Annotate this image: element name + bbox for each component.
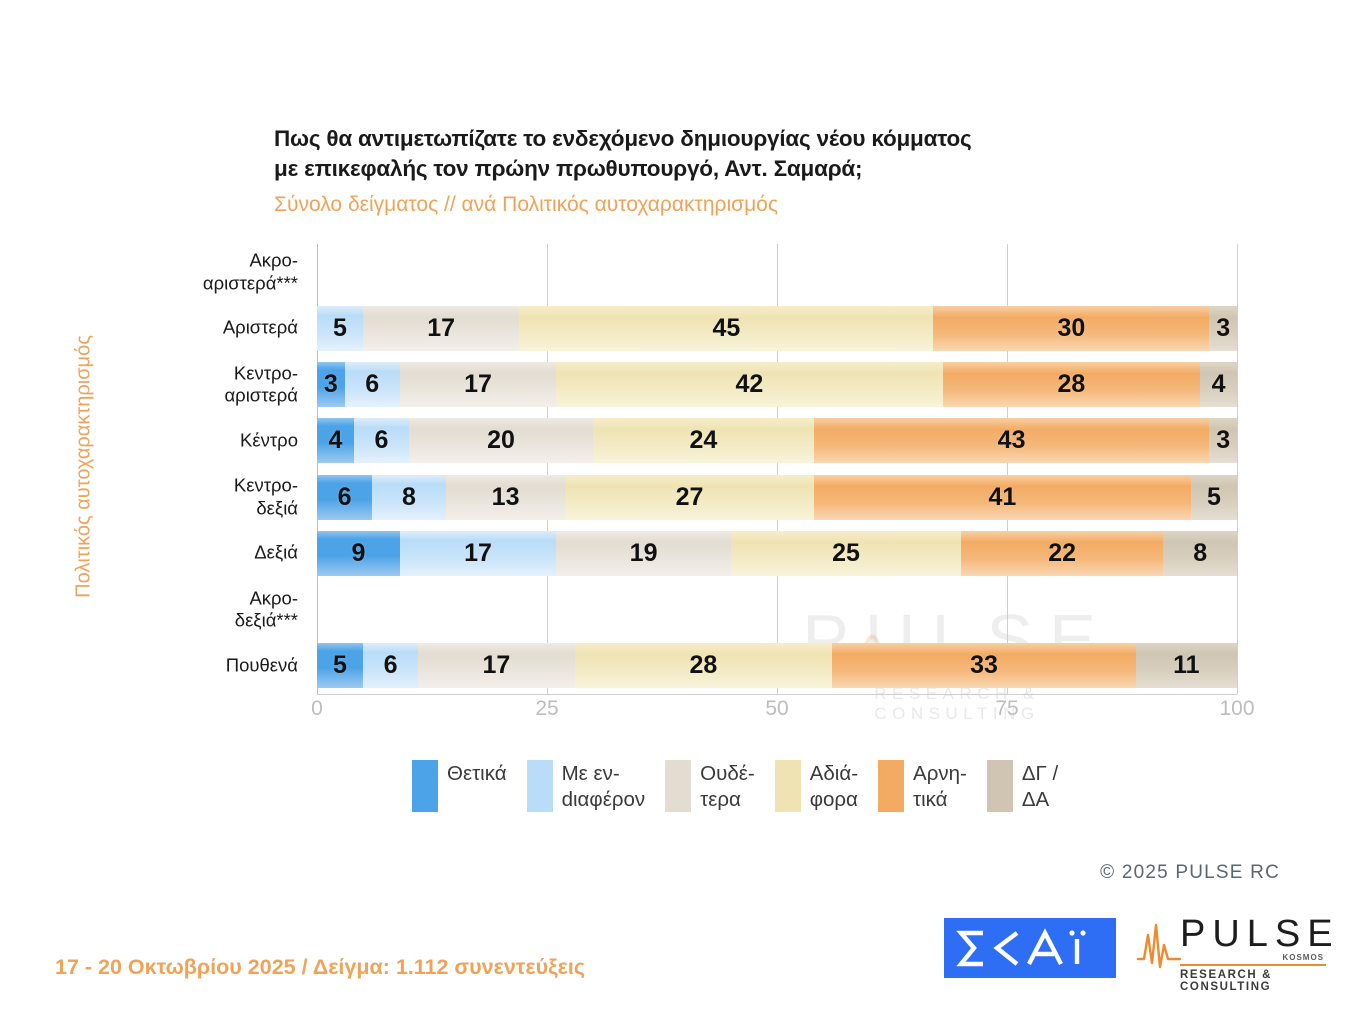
- x-tick-label: 25: [535, 697, 558, 721]
- y-category-label: Αριστερά: [100, 317, 298, 340]
- y-category-label: Δεξιά: [100, 542, 298, 565]
- bar-segment: 30: [933, 306, 1209, 351]
- bar-row: 462024433: [317, 418, 1237, 463]
- legend-item[interactable]: Αρνη- τικά: [878, 760, 967, 813]
- bar-segment-value: 28: [1057, 370, 1085, 399]
- y-category-label: Ακρο-δεξιά***: [100, 587, 298, 632]
- bar-segment-value: 28: [689, 651, 717, 680]
- y-axis-category-labels: Ακρο-αριστερά***ΑριστεράΚεντρο-αριστεράΚ…: [100, 244, 308, 694]
- bar-segment-value: 5: [1207, 483, 1221, 512]
- title-block: Πως θα αντιμετωπίζατε το ενδεχόμενο δημι…: [274, 124, 1174, 220]
- grid-line: [1237, 244, 1238, 694]
- x-axis-tick-labels: 0255075100: [317, 697, 1237, 729]
- pulse-logo-tagline: RESEARCH & CONSULTING: [1180, 969, 1326, 993]
- bar-segment-value: 4: [328, 426, 342, 455]
- chart-title-line-1: Πως θα αντιμετωπίζατε το ενδεχόμενο δημι…: [274, 124, 1174, 154]
- bar-segment: 13: [446, 475, 566, 520]
- bar-segment: 4: [317, 418, 354, 463]
- bar-segment: 8: [372, 475, 446, 520]
- x-axis-line: [317, 694, 1237, 695]
- bar-segment-value: 6: [365, 370, 379, 399]
- bar-segment: 17: [400, 531, 556, 576]
- fieldwork-note: 17 - 20 Οκτωβρίου 2025 / Δείγμα: 1.112 σ…: [55, 955, 585, 980]
- bar-segment: 6: [345, 362, 400, 407]
- bar-segment-value: 4: [1212, 370, 1226, 399]
- bar-segment-value: 6: [338, 483, 352, 512]
- legend-label: Θετικά: [447, 760, 507, 787]
- legend-item[interactable]: Με εν- dιαφέρον: [527, 760, 646, 813]
- legend-label: Ουδέ- τερα: [700, 760, 755, 813]
- bar-segment: 28: [575, 643, 833, 688]
- bar-row: 361742284: [317, 362, 1237, 407]
- bar-segment-value: 6: [384, 651, 398, 680]
- legend-swatch: [412, 760, 438, 812]
- bar-segment-value: 42: [735, 370, 763, 399]
- bar-segment: 6: [354, 418, 409, 463]
- copyright-text: © 2025 PULSE RC: [1100, 862, 1280, 884]
- legend-item[interactable]: Θετικά: [412, 760, 507, 812]
- bar-segment: 3: [317, 362, 345, 407]
- bar-segment: 3: [1209, 306, 1237, 351]
- plot-area: ∿ PULSE RESEARCH & CONSULTING 5174530336…: [317, 244, 1237, 694]
- pulse-logo: PULSE KOSMOS RESEARCH & CONSULTING: [1136, 915, 1326, 987]
- bar-segment: 43: [814, 418, 1210, 463]
- y-category-label: Ακρο-αριστερά***: [100, 250, 298, 295]
- y-category-label: Κέντρο: [100, 430, 298, 453]
- bar-segment: 45: [519, 306, 933, 351]
- bar-segment-value: 27: [676, 483, 704, 512]
- pulse-logo-kosmos: KOSMOS: [1282, 953, 1324, 962]
- pulse-logo-rule: [1180, 964, 1326, 966]
- bar-segment-value: 17: [482, 651, 510, 680]
- bar-segment-value: 3: [324, 370, 338, 399]
- bar-segment: 22: [961, 531, 1163, 576]
- bar-segment: 42: [556, 362, 942, 407]
- pulse-waveform-icon: [1136, 919, 1182, 975]
- bar-segment: 8: [1163, 531, 1237, 576]
- bar-segment: 33: [832, 643, 1136, 688]
- y-category-label: Κεντρο-αριστερά: [100, 362, 298, 407]
- bar-row: 681327415: [317, 475, 1237, 520]
- y-axis-title: Πολιτικός αυτοχαρακτηρισμός: [73, 307, 96, 627]
- bar-row: 5617283311: [317, 643, 1237, 688]
- bar-segment-value: 43: [998, 426, 1026, 455]
- bar-segment-value: 5: [333, 314, 347, 343]
- bar-segment-value: 6: [374, 426, 388, 455]
- bar-segment-value: 3: [1216, 426, 1230, 455]
- skai-logo: [944, 918, 1116, 978]
- legend-label: ΔΓ / ΔΑ: [1022, 760, 1058, 813]
- bar-segment-value: 11: [1173, 651, 1199, 680]
- bar-segment-value: 45: [712, 314, 740, 343]
- bar-segment-value: 17: [464, 370, 492, 399]
- bar-segment: 11: [1136, 643, 1237, 688]
- bar-segment-value: 24: [689, 426, 717, 455]
- bar-segment: 5: [317, 643, 363, 688]
- y-category-label: Πουθενά: [100, 655, 298, 678]
- chart-subtitle: Σύνολο δείγματος // ανά Πολιτικός αυτοχα…: [274, 189, 1174, 221]
- legend-item[interactable]: Ουδέ- τερα: [665, 760, 755, 813]
- pulse-logo-wordmark: PULSE: [1180, 915, 1340, 953]
- bar-segment-value: 33: [970, 651, 998, 680]
- x-tick-label: 50: [765, 697, 788, 721]
- legend-item[interactable]: Αδιά- φορα: [775, 760, 858, 813]
- legend-swatch: [987, 760, 1013, 812]
- bar-segment-value: 8: [1193, 539, 1207, 568]
- skai-logo-icon: [955, 927, 1105, 969]
- bar-segment: 41: [814, 475, 1191, 520]
- legend-label: Αρνη- τικά: [913, 760, 967, 813]
- bar-segment: 25: [731, 531, 961, 576]
- legend-label: Αδιά- φορα: [810, 760, 858, 813]
- legend-item[interactable]: ΔΓ / ΔΑ: [987, 760, 1058, 813]
- bar-segment: 6: [363, 643, 418, 688]
- bar-segment: 27: [565, 475, 813, 520]
- legend-swatch: [775, 760, 801, 812]
- stacked-bars: 5174530336174228446202443368132741591719…: [317, 244, 1237, 694]
- bar-segment-value: 17: [427, 314, 455, 343]
- x-tick-label: 0: [311, 697, 323, 721]
- bar-segment: 19: [556, 531, 731, 576]
- bar-segment-value: 25: [832, 539, 860, 568]
- bar-row: 9171925228: [317, 531, 1237, 576]
- bar-segment-value: 19: [630, 539, 658, 568]
- bar-segment-value: 8: [402, 483, 416, 512]
- bar-segment: 17: [363, 306, 519, 351]
- bar-segment: 17: [400, 362, 556, 407]
- legend-swatch: [665, 760, 691, 812]
- bar-segment-value: 9: [351, 539, 365, 568]
- bar-segment-value: 41: [988, 483, 1016, 512]
- bar-row: 51745303: [317, 306, 1237, 351]
- x-tick-label: 75: [995, 697, 1018, 721]
- bar-segment: 6: [317, 475, 372, 520]
- bar-segment: 28: [943, 362, 1201, 407]
- legend-swatch: [527, 760, 553, 812]
- bar-segment: 24: [593, 418, 814, 463]
- chart-title-line-2: με επικεφαλής τον πρώην πρωθυπουργό, Αντ…: [274, 154, 1174, 184]
- bar-segment: 4: [1200, 362, 1237, 407]
- bar-segment: 17: [418, 643, 574, 688]
- legend: ΘετικάΜε εν- dιαφέρονΟυδέ- τεραΑδιά- φορ…: [412, 760, 1078, 813]
- legend-label: Με εν- dιαφέρον: [562, 760, 646, 813]
- bar-segment-value: 20: [487, 426, 515, 455]
- bar-segment-value: 5: [333, 651, 347, 680]
- bar-segment-value: 22: [1048, 539, 1076, 568]
- bar-segment-value: 13: [492, 483, 520, 512]
- bar-segment-value: 3: [1216, 314, 1230, 343]
- legend-swatch: [878, 760, 904, 812]
- bar-segment: 9: [317, 531, 400, 576]
- y-category-label: Κεντρο-δεξιά: [100, 475, 298, 520]
- bar-segment: 5: [1191, 475, 1237, 520]
- bar-segment: 3: [1209, 418, 1237, 463]
- bar-segment: 5: [317, 306, 363, 351]
- bar-segment-value: 17: [464, 539, 492, 568]
- x-tick-label: 100: [1219, 697, 1254, 721]
- bar-segment: 20: [409, 418, 593, 463]
- bar-segment-value: 30: [1057, 314, 1085, 343]
